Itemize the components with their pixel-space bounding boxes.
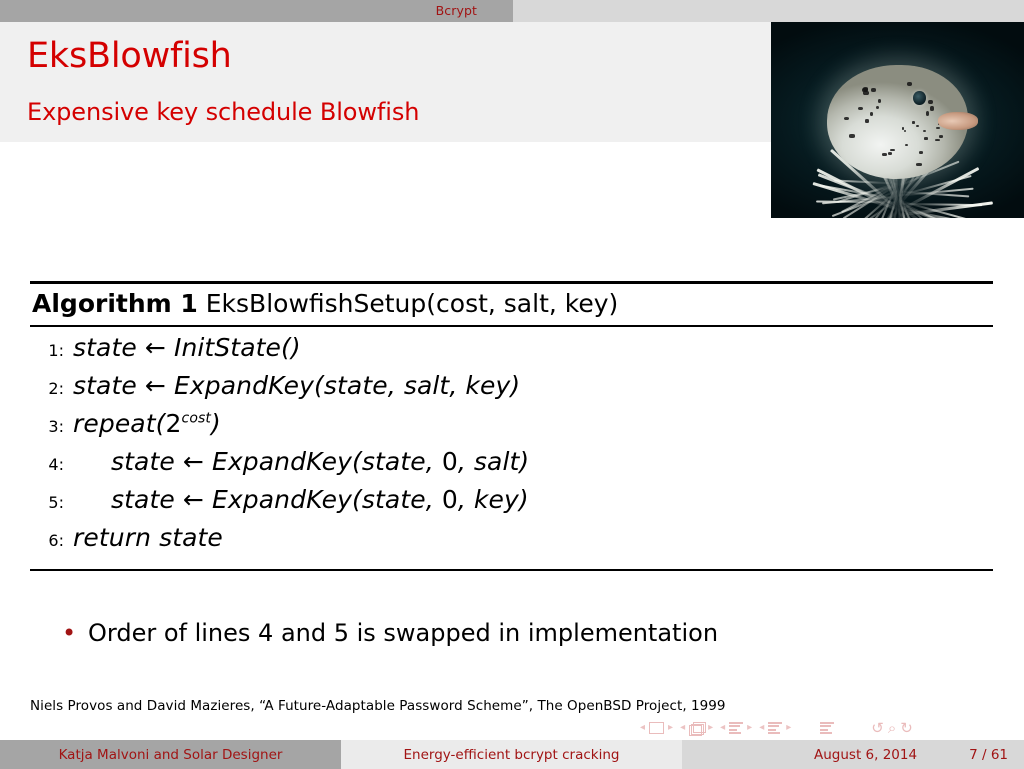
algorithm-line-code: state ← ExpandKey(state, salt, key) (73, 371, 520, 400)
nav-section-label: Bcrypt (436, 5, 477, 18)
frame-stack-icon[interactable] (689, 722, 704, 734)
bullet-list: •Order of lines 4 and 5 is swapped in im… (62, 620, 962, 646)
nav-section-empty (513, 0, 1024, 22)
next-section-icon[interactable]: ▸ (786, 723, 791, 733)
nav-section-bcrypt[interactable]: Bcrypt (0, 0, 513, 22)
section-navigation-bar: Bcrypt (0, 0, 1024, 22)
citation-reference: Niels Provos and David Mazieres, “A Futu… (30, 698, 726, 714)
next-subsection-icon[interactable]: ▸ (747, 723, 752, 733)
footer-authors: Katja Malvoni and Solar Designer (0, 740, 341, 769)
next-frame-icon[interactable]: ▸ (708, 723, 713, 733)
footer-date: August 6, 2014 (814, 747, 917, 763)
section-icon[interactable] (768, 722, 782, 735)
bullet-marker-icon: • (62, 621, 88, 645)
list-item: •Order of lines 4 and 5 is swapped in im… (62, 620, 962, 646)
slide-icon[interactable] (649, 722, 664, 734)
algorithm-caption: Algorithm 1 EksBlowfishSetup(cost, salt,… (30, 284, 993, 325)
algorithm-block: Algorithm 1 EksBlowfishSetup(cost, salt,… (30, 281, 993, 571)
algorithm-line: 4:state ← ExpandKey(state, 0, salt) (30, 447, 993, 485)
algorithm-line: 6:return state (30, 523, 993, 561)
prev-frame-icon[interactable]: ◂ (680, 723, 685, 733)
nav-frame-group[interactable]: ◂ ▸ (680, 722, 713, 734)
algorithm-line-code: state ← ExpandKey(state, 0, salt) (73, 447, 529, 476)
nav-section-group[interactable]: ◂ ▸ (759, 722, 791, 735)
algorithm-line-code: return state (73, 523, 223, 552)
algorithm-signature: EksBlowfishSetup(cost, salt, key) (206, 289, 619, 318)
prev-subsection-icon[interactable]: ◂ (720, 723, 725, 733)
algorithm-line-number: 1: (30, 341, 73, 360)
back-icon[interactable]: ↺ (871, 721, 884, 736)
algorithm-line: 3:repeat(2cost) (30, 409, 993, 447)
algorithm-bottom-rule (30, 569, 993, 571)
subsection-icon[interactable] (729, 722, 743, 735)
bullet-text: Order of lines 4 and 5 is swapped in imp… (88, 620, 718, 646)
pufferfish-eye (913, 91, 926, 106)
algorithm-label: Algorithm 1 (32, 289, 198, 318)
algorithm-line-number: 3: (30, 417, 73, 436)
nav-subsection-group[interactable]: ◂ ▸ (720, 722, 752, 735)
algorithm-line-number: 4: (30, 455, 73, 474)
next-slide-icon[interactable]: ▸ (668, 723, 673, 733)
footer-meta: August 6, 2014 7 / 61 (682, 740, 1024, 769)
algorithm-line-number: 6: (30, 531, 73, 550)
algorithm-line-code: state ← InitState() (73, 333, 301, 362)
algorithm-line-number: 2: (30, 379, 73, 398)
pufferfish-image (771, 22, 1024, 218)
algorithm-line: 1:state ← InitState() (30, 333, 993, 371)
algorithm-line: 5:state ← ExpandKey(state, 0, key) (30, 485, 993, 523)
page-subtitle: Expensive key schedule Blowfish (27, 100, 419, 124)
nav-slide-group[interactable]: ◂ ▸ (640, 722, 673, 734)
nav-history-group[interactable]: ↺ ⌕ ↻ (867, 721, 913, 736)
prev-slide-icon[interactable]: ◂ (640, 723, 645, 733)
search-icon[interactable]: ⌕ (888, 721, 896, 736)
page-title: EksBlowfish (27, 39, 232, 74)
presentation-icon[interactable] (820, 722, 834, 735)
pufferfish-mouth (938, 112, 978, 130)
slide-footer: Katja Malvoni and Solar Designer Energy-… (0, 740, 1024, 769)
footer-page-number: 7 / 61 (969, 747, 1008, 763)
beamer-navigation-symbols: ◂ ▸ ◂ ▸ ◂ ▸ ◂ ▸ ↺ ⌕ ↻ (640, 716, 1014, 740)
forward-icon[interactable]: ↻ (900, 721, 913, 736)
algorithm-line-code: repeat(2cost) (73, 409, 221, 438)
nav-presentation-group[interactable] (820, 722, 834, 735)
algorithm-lines: 1:state ← InitState()2:state ← ExpandKey… (30, 327, 993, 569)
algorithm-line-code: state ← ExpandKey(state, 0, key) (73, 485, 529, 514)
footer-talk-title: Energy-efficient bcrypt cracking (341, 740, 682, 769)
prev-section-icon[interactable]: ◂ (759, 723, 764, 733)
algorithm-line-number: 5: (30, 493, 73, 512)
algorithm-line: 2:state ← ExpandKey(state, salt, key) (30, 371, 993, 409)
